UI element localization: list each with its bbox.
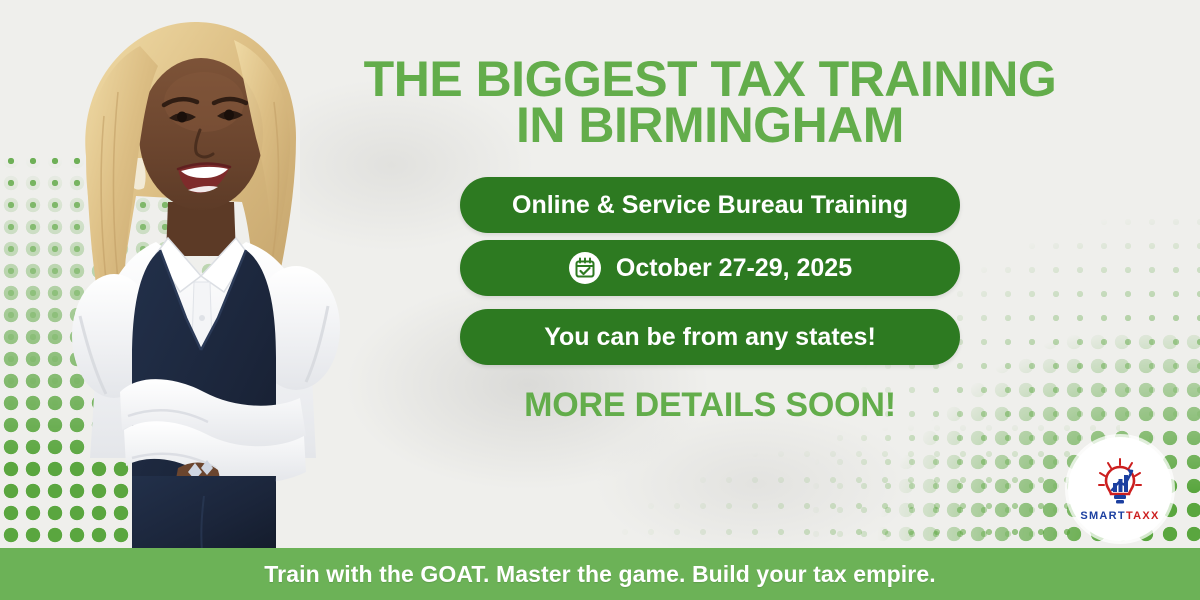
logo-wordmark: SMARTTAXX: [1080, 510, 1159, 522]
logo-smart-text: SMART: [1080, 510, 1126, 522]
eligibility-pill[interactable]: You can be from any states!: [460, 309, 960, 365]
eligibility-label: You can be from any states!: [544, 323, 876, 352]
halftone-dots-center: [560, 415, 1120, 550]
training-type-label: Online & Service Bureau Training: [512, 191, 908, 220]
headline-line-2: IN BIRMINGHAM: [330, 102, 1090, 148]
logo-taxx-text: TAXX: [1126, 510, 1160, 522]
event-date-label: October 27-29, 2025: [616, 254, 852, 283]
calendar-check-icon: [568, 251, 602, 285]
headline-line-1: THE BIGGEST TAX TRAINING: [330, 56, 1090, 102]
training-type-pill[interactable]: Online & Service Bureau Training: [460, 177, 960, 233]
event-date-pill[interactable]: October 27-29, 2025: [460, 240, 960, 296]
tagline-text: Train with the GOAT. Master the game. Bu…: [264, 561, 935, 588]
smarttaxx-logo: SMARTTAXX: [1068, 437, 1172, 541]
more-details-text: MORE DETAILS SOON!: [460, 386, 960, 425]
lightbulb-bar-chart-icon: [1094, 457, 1146, 509]
tagline-bar: Train with the GOAT. Master the game. Bu…: [0, 548, 1200, 600]
speaker-portrait: [28, 6, 358, 551]
promotional-banner: THE BIGGEST TAX TRAINING IN BIRMINGHAM O…: [0, 0, 1200, 600]
page-title: THE BIGGEST TAX TRAINING IN BIRMINGHAM: [330, 56, 1090, 148]
